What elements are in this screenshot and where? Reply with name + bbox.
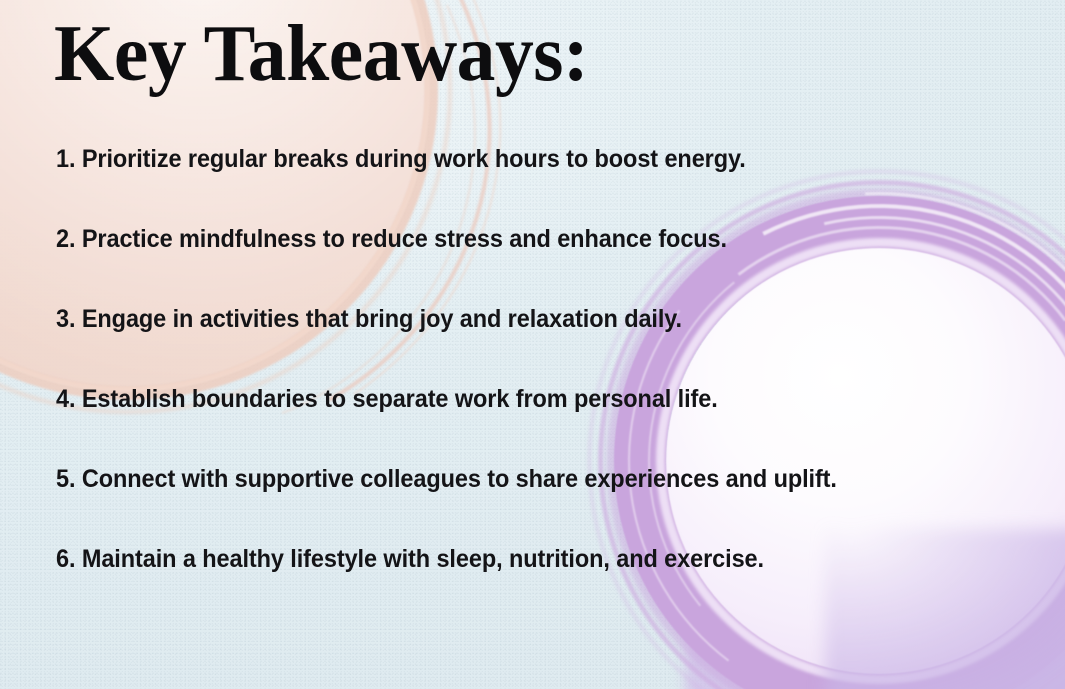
list-item: 2. Practice mindfulness to reduce stress… [56,223,967,303]
key-takeaways-poster: Key Takeaways: 1. Prioritize regular bre… [0,0,1065,689]
list-item: 3. Engage in activities that bring joy a… [56,303,967,383]
page-title: Key Takeaways: [54,14,588,96]
list-item: 4. Establish boundaries to separate work… [56,383,967,463]
takeaways-list: 1. Prioritize regular breaks during work… [56,143,1025,623]
list-item: 1. Prioritize regular breaks during work… [56,143,967,223]
list-item: 6. Maintain a healthy lifestyle with sle… [56,543,967,623]
poster-content: Key Takeaways: 1. Prioritize regular bre… [0,0,1065,689]
list-item: 5. Connect with supportive colleagues to… [56,463,967,543]
